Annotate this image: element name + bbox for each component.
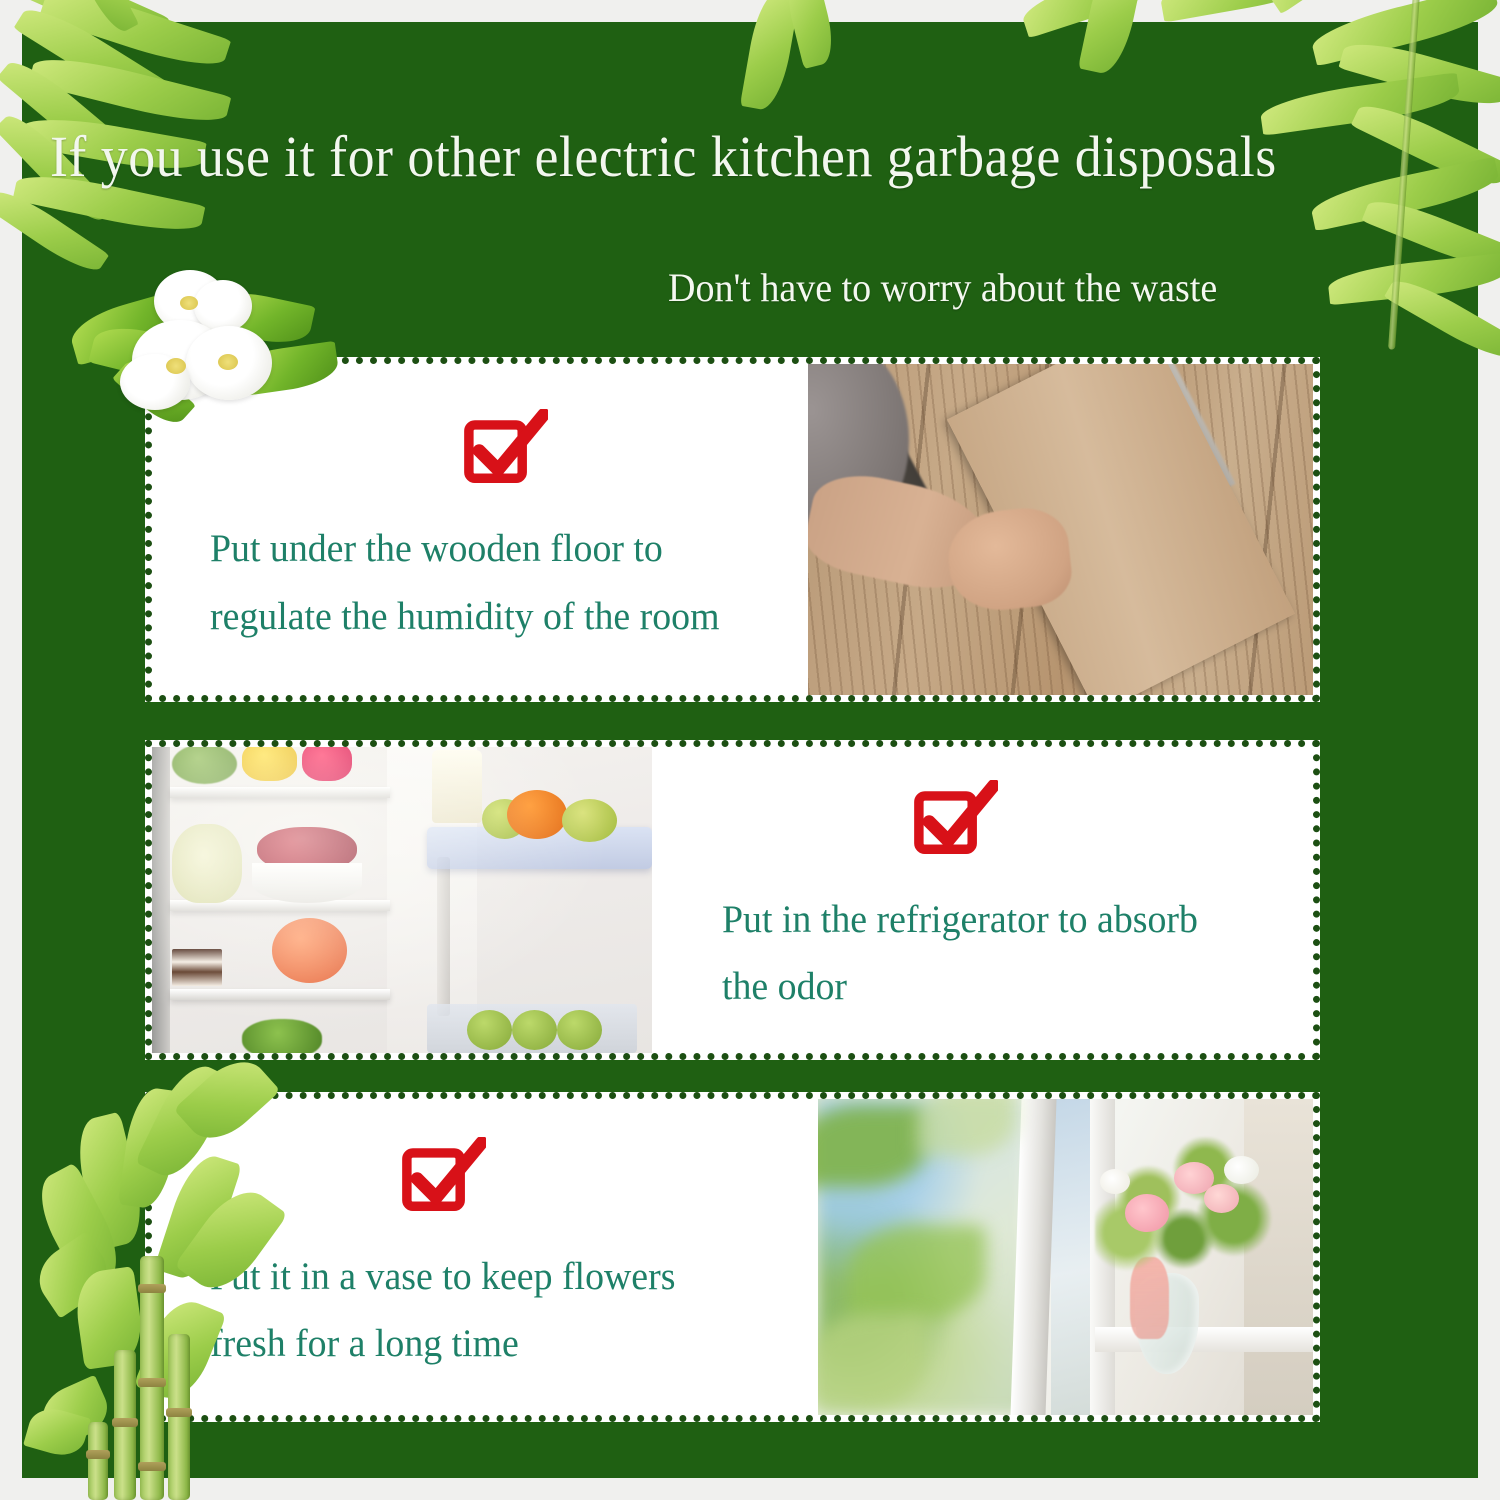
red-checkbox-icon — [400, 1137, 486, 1217]
card-flower-vase: Put it in a vase to keep flowers fresh f… — [145, 1092, 1320, 1422]
poster-root: If you use it for other electric kitchen… — [0, 0, 1500, 1500]
card-wooden-floor-text-block: Put under the wooden floor to regulate t… — [152, 364, 808, 695]
card-wooden-floor-line-1: Put under the wooden floor to — [210, 515, 771, 582]
card-flower-vase-text-block: Put it in a vase to keep flowers fresh f… — [152, 1099, 818, 1415]
card-refrigerator-photo — [152, 747, 652, 1053]
card-refrigerator-text-block: Put in the refrigerator to absorb the od… — [652, 747, 1313, 1053]
card-refrigerator-line-2: the odor — [722, 953, 1276, 1020]
page-subtitle: Don't have to worry about the waste — [668, 268, 1217, 308]
red-checkbox-icon — [462, 409, 548, 489]
card-flower-vase-line-2: fresh for a long time — [210, 1310, 780, 1377]
card-flower-vase-photo — [818, 1099, 1313, 1415]
card-refrigerator: Put in the refrigerator to absorb the od… — [145, 740, 1320, 1060]
card-wooden-floor-line-2: regulate the humidity of the room — [210, 583, 771, 650]
page-title: If you use it for other electric kitchen… — [50, 128, 1371, 186]
card-wooden-floor-photo — [808, 364, 1313, 695]
card-flower-vase-line-1: Put it in a vase to keep flowers — [210, 1243, 780, 1310]
card-refrigerator-line-1: Put in the refrigerator to absorb — [722, 886, 1276, 953]
card-wooden-floor: Put under the wooden floor to regulate t… — [145, 357, 1320, 702]
red-checkbox-icon — [912, 780, 998, 860]
